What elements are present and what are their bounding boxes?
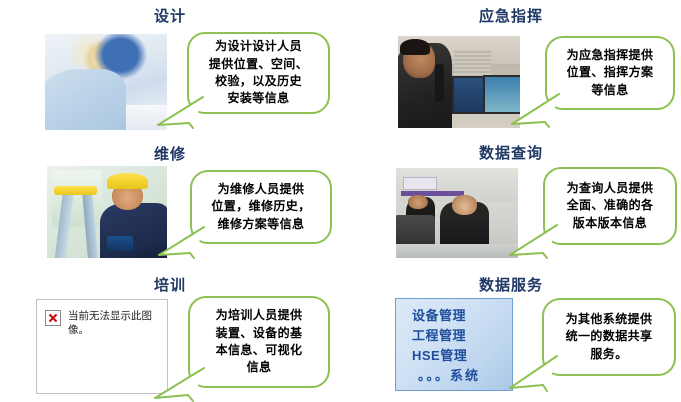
photo-detail xyxy=(107,173,148,189)
photo-detail xyxy=(408,195,428,209)
bubble-design: 为设计设计人员 提供位置、空间、 校验，以及历史 安装等信息 xyxy=(187,32,330,114)
data-query-office-photo xyxy=(396,168,518,258)
bubble-text-training: 为培训人员提供 装置、设备的基 本信息、可视化 信息 xyxy=(208,307,311,377)
bubble-text-data-query: 为查询人员提供 全面、准确的各 版本版本信息 xyxy=(559,180,662,232)
photo-detail xyxy=(45,105,167,130)
panel-title-training: 培训 xyxy=(0,274,340,295)
broken-image-icon xyxy=(45,310,61,326)
broken-image-content: 当前无法显示此图像。 xyxy=(37,300,167,337)
training-broken-image: 当前无法显示此图像。 xyxy=(36,299,168,394)
photo-detail xyxy=(452,195,476,215)
bubble-emergency-command: 为应急指挥提供 位置、指挥方案 等信息 xyxy=(545,36,675,110)
panel-maintenance: 维修 为维修人员提供 位置，维修历史， 维修方案等信息 xyxy=(0,135,340,268)
service-line-3: HSE管理 xyxy=(412,345,512,364)
panel-title-emergency-command: 应急指挥 xyxy=(341,5,681,26)
photo-detail xyxy=(401,191,464,196)
panel-training: 培训 当前无法显示此图像。 为培训人员提供 装置、设备的基 本信息、可视化 信息 xyxy=(0,268,340,400)
bubble-text-emergency-command: 为应急指挥提供 位置、指挥方案 等信息 xyxy=(559,47,662,99)
diagram-canvas: 设计 为设计设计人员 提供位置、空间、 校验，以及历史 安装等信息 应急指挥 xyxy=(0,0,681,400)
panel-title-data-query: 数据查询 xyxy=(341,142,681,163)
data-service-box: 设备管理 工程管理 HSE管理 。。。系统 xyxy=(395,298,513,391)
panel-title-data-service: 数据服务 xyxy=(341,274,681,295)
photo-detail xyxy=(400,39,429,56)
panel-data-query: 数据查询 为查询人员提供 全面、准确的各 版本版本信息 xyxy=(341,135,681,268)
service-line-4: 。。。系统 xyxy=(412,365,512,384)
photo-detail xyxy=(452,76,488,113)
service-line-1: 设备管理 xyxy=(412,305,512,324)
broken-image-message: 当前无法显示此图像。 xyxy=(68,309,159,337)
photo-detail xyxy=(107,236,133,251)
bubble-text-maintenance: 为维修人员提供 位置，维修历史， 维修方案等信息 xyxy=(203,181,318,233)
panel-data-service: 数据服务 设备管理 工程管理 HSE管理 。。。系统 为其他系统提供 统一的数据… xyxy=(341,268,681,400)
bubble-maintenance: 为维修人员提供 位置，维修历史， 维修方案等信息 xyxy=(190,170,332,244)
photo-detail xyxy=(483,75,520,114)
bubble-data-query: 为查询人员提供 全面、准确的各 版本版本信息 xyxy=(543,167,677,245)
photo-detail xyxy=(396,244,518,258)
service-line-2: 工程管理 xyxy=(412,325,512,344)
emergency-command-photo xyxy=(398,36,520,128)
panel-title-maintenance: 维修 xyxy=(0,143,340,164)
bubble-data-service: 为其他系统提供 统一的数据共享 服务。 xyxy=(542,298,676,376)
panel-design: 设计 为设计设计人员 提供位置、空间、 校验，以及历史 安装等信息 xyxy=(0,0,340,135)
maintenance-worker-photo xyxy=(47,166,167,258)
photo-detail xyxy=(435,64,445,103)
design-engineer-photo xyxy=(45,34,167,130)
photo-detail xyxy=(403,177,437,190)
bubble-text-design: 为设计设计人员 提供位置、空间、 校验，以及历史 安装等信息 xyxy=(201,38,316,108)
photo-detail xyxy=(54,186,97,194)
panel-emergency-command: 应急指挥 为应急指挥提供 位置、指挥方案 等信息 xyxy=(341,0,681,135)
bubble-text-data-service: 为其他系统提供 统一的数据共享 服务。 xyxy=(558,311,661,363)
panel-title-design: 设计 xyxy=(0,5,340,26)
bubble-training: 为培训人员提供 装置、设备的基 本信息、可视化 信息 xyxy=(188,296,330,388)
